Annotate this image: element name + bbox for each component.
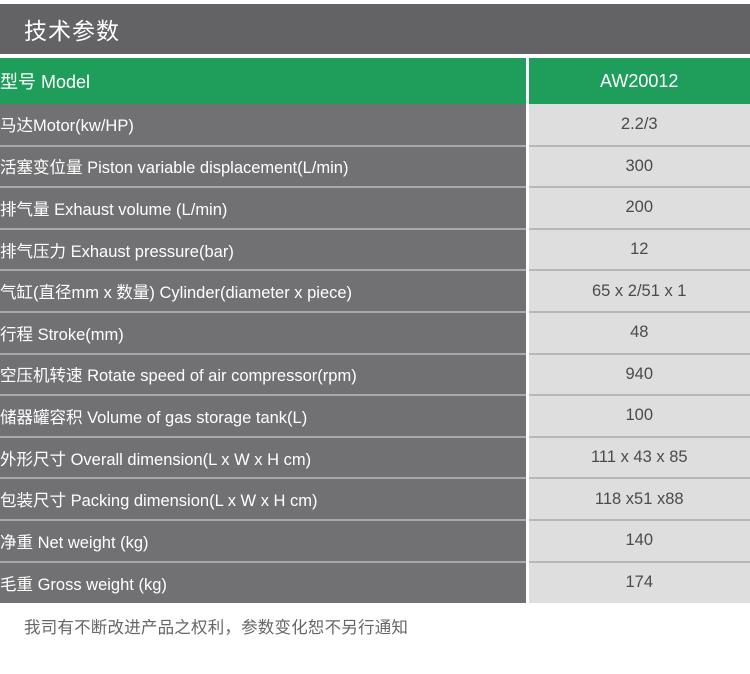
spec-label: 活塞变位量 Piston variable displacement(L/min… bbox=[0, 146, 527, 188]
table-row: 排气压力 Exhaust pressure(bar) 12 bbox=[0, 229, 750, 271]
spec-value: 118 x51 x88 bbox=[527, 478, 750, 520]
spec-value: 12 bbox=[527, 229, 750, 271]
spec-value: 200 bbox=[527, 187, 750, 229]
column-header-model-label: 型号 Model bbox=[0, 58, 527, 104]
table-row: 马达Motor(kw/HP) 2.2/3 bbox=[0, 104, 750, 146]
spec-value: 140 bbox=[527, 520, 750, 562]
table-row: 气缸(直径mm x 数量) Cylinder(diameter x piece)… bbox=[0, 270, 750, 312]
spec-value: 65 x 2/51 x 1 bbox=[527, 270, 750, 312]
table-row: 排气量 Exhaust volume (L/min) 200 bbox=[0, 187, 750, 229]
spec-label: 马达Motor(kw/HP) bbox=[0, 104, 527, 146]
spec-value: 48 bbox=[527, 312, 750, 354]
spec-label: 行程 Stroke(mm) bbox=[0, 312, 527, 354]
spec-value: 111 x 43 x 85 bbox=[527, 437, 750, 479]
table-row: 包装尺寸 Packing dimension(L x W x H cm) 118… bbox=[0, 478, 750, 520]
table-row: 储器罐容积 Volume of gas storage tank(L) 100 bbox=[0, 395, 750, 437]
table-row: 净重 Net weight (kg) 140 bbox=[0, 520, 750, 562]
spec-label: 毛重 Gross weight (kg) bbox=[0, 562, 527, 604]
spec-label: 包装尺寸 Packing dimension(L x W x H cm) bbox=[0, 478, 527, 520]
spec-label: 排气量 Exhaust volume (L/min) bbox=[0, 187, 527, 229]
spec-label: 排气压力 Exhaust pressure(bar) bbox=[0, 229, 527, 271]
table-row: 空压机转速 Rotate speed of air compressor(rpm… bbox=[0, 354, 750, 396]
column-header-model-value: AW20012 bbox=[527, 58, 750, 104]
table-row: 毛重 Gross weight (kg) 174 bbox=[0, 562, 750, 604]
spec-value: 300 bbox=[527, 146, 750, 188]
spec-value: 174 bbox=[527, 562, 750, 604]
spec-value: 940 bbox=[527, 354, 750, 396]
table-row: 外形尺寸 Overall dimension(L x W x H cm) 111… bbox=[0, 437, 750, 479]
spec-value: 100 bbox=[527, 395, 750, 437]
spec-label: 气缸(直径mm x 数量) Cylinder(diameter x piece) bbox=[0, 270, 527, 312]
table-header-row: 型号 Model AW20012 bbox=[0, 58, 750, 104]
spec-label: 净重 Net weight (kg) bbox=[0, 520, 527, 562]
table-body: 马达Motor(kw/HP) 2.2/3 活塞变位量 Piston variab… bbox=[0, 104, 750, 603]
spec-label: 储器罐容积 Volume of gas storage tank(L) bbox=[0, 395, 527, 437]
disclaimer-note: 我司有不断改进产品之权利，参数变化恕不另行通知 bbox=[24, 614, 408, 638]
spec-label: 外形尺寸 Overall dimension(L x W x H cm) bbox=[0, 437, 527, 479]
section-title-bar: 技术参数 bbox=[0, 4, 750, 54]
spec-value: 2.2/3 bbox=[527, 104, 750, 146]
technical-parameters-table: 型号 Model AW20012 马达Motor(kw/HP) 2.2/3 活塞… bbox=[0, 58, 750, 603]
table-row: 行程 Stroke(mm) 48 bbox=[0, 312, 750, 354]
spec-sheet-page: 技术参数 型号 Model AW20012 马达Motor(kw/HP) 2.2… bbox=[0, 0, 750, 674]
table-row: 活塞变位量 Piston variable displacement(L/min… bbox=[0, 146, 750, 188]
page-title: 技术参数 bbox=[24, 12, 120, 46]
spec-label: 空压机转速 Rotate speed of air compressor(rpm… bbox=[0, 354, 527, 396]
